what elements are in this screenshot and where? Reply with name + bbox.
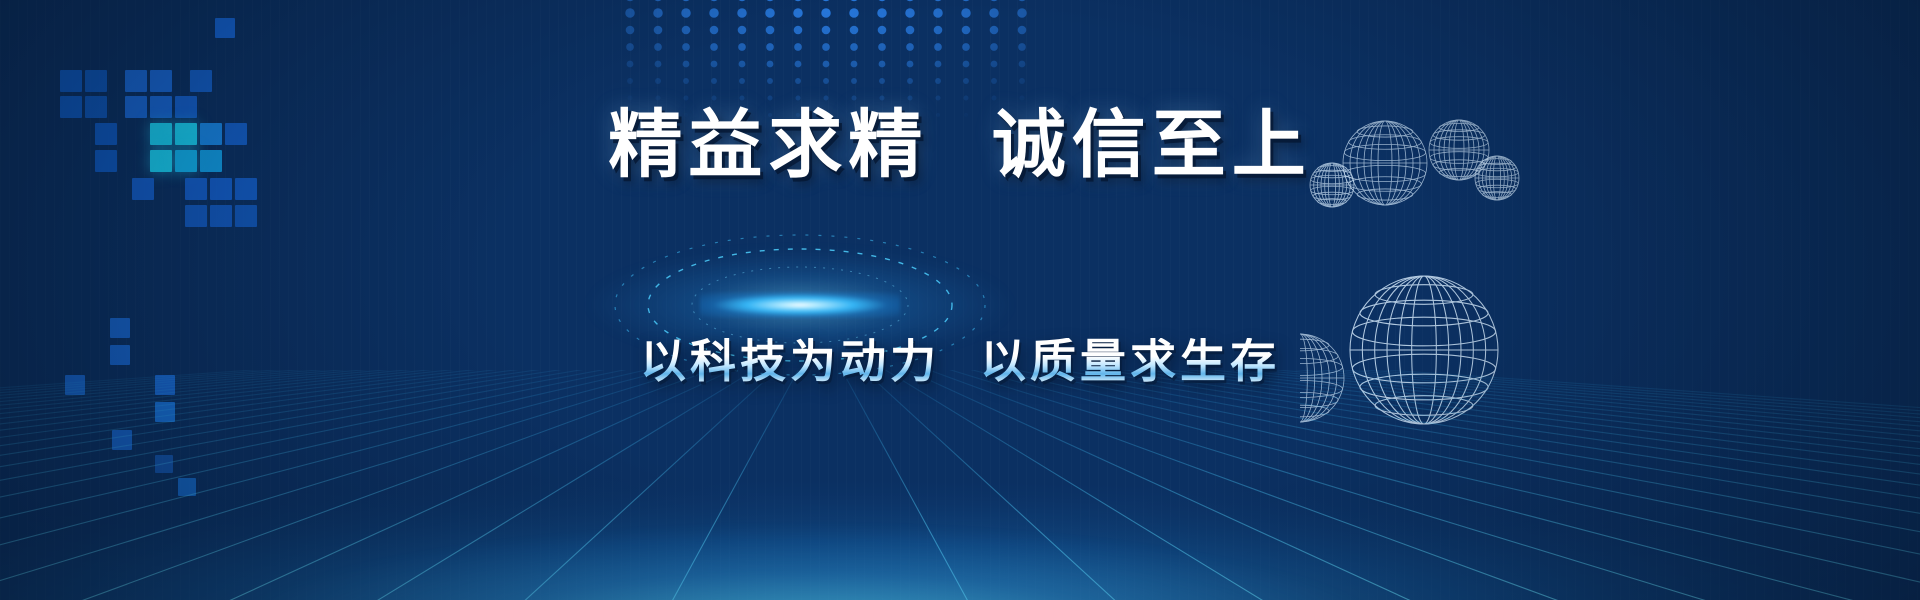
ring-core-glow <box>700 292 900 318</box>
globe <box>1429 120 1489 180</box>
globe <box>1300 334 1344 422</box>
mosaic-square <box>185 178 207 200</box>
mosaic-square <box>95 123 117 145</box>
grid-line <box>0 370 820 600</box>
ring-core-glow-outer <box>590 250 1010 360</box>
grid-line <box>0 370 820 600</box>
mosaic-square <box>200 150 222 172</box>
grid-line <box>820 370 1920 600</box>
mosaic-square <box>200 123 222 145</box>
grid-line <box>820 370 1920 600</box>
mosaic-square <box>215 18 235 38</box>
grid-line <box>0 370 820 600</box>
grid-line <box>70 370 820 600</box>
grid-line <box>820 370 1920 600</box>
mosaic-square <box>155 402 175 422</box>
grid-line <box>820 370 1920 600</box>
grid-line <box>820 370 1920 600</box>
mosaic-square <box>155 455 173 473</box>
grid-line <box>0 370 820 600</box>
mosaic-square <box>150 150 172 172</box>
grid-line <box>820 370 1920 600</box>
mosaic-square <box>185 205 207 227</box>
mosaic-square <box>225 123 247 145</box>
grid-line <box>0 370 820 600</box>
grid-line <box>520 370 820 600</box>
grid-line <box>0 370 820 600</box>
grid-line <box>820 370 1920 600</box>
mosaic-square <box>175 123 197 145</box>
grid-line <box>820 370 1570 600</box>
mosaic-square <box>125 96 147 118</box>
mosaic-square <box>150 123 172 145</box>
page-title: 精益求精 诚信至上 <box>0 108 1920 182</box>
grid-line <box>0 370 820 600</box>
grid-line <box>820 370 1420 600</box>
grid-line <box>0 370 820 600</box>
mosaic-square <box>178 478 196 496</box>
globe <box>1350 276 1498 424</box>
mosaic-square <box>112 430 132 450</box>
globe <box>1475 156 1519 200</box>
vertical-stripes-overlay <box>0 0 1920 600</box>
mosaic-square <box>110 318 130 338</box>
grid-line <box>0 370 820 600</box>
globe <box>1310 163 1354 207</box>
grid-line <box>370 370 820 600</box>
grid-line <box>820 370 1920 600</box>
grid-line <box>820 370 1920 600</box>
mosaic-square <box>85 70 107 92</box>
mosaic-square <box>132 178 154 200</box>
mosaic-square <box>60 70 82 92</box>
mosaic-square <box>190 70 212 92</box>
hero-banner: 精益求精 诚信至上 以科技为动力 以质量求生存 <box>0 0 1920 600</box>
glowing-orbit-ring <box>600 215 1000 395</box>
grid-line <box>0 370 820 600</box>
grid-line <box>820 370 1920 600</box>
grid-line <box>0 370 820 600</box>
grid-line <box>0 370 820 600</box>
mosaic-square <box>235 205 257 227</box>
grid-line <box>820 370 970 600</box>
mosaic-square <box>155 375 175 395</box>
grid-line <box>670 370 820 600</box>
grid-line <box>820 370 1920 600</box>
vignette-overlay <box>0 0 1920 600</box>
mosaic-square <box>175 150 197 172</box>
grid-line <box>820 370 1920 600</box>
globe <box>1343 121 1427 205</box>
mosaic-square <box>150 96 172 118</box>
grid-line <box>820 370 1870 600</box>
grid-line <box>820 370 1920 600</box>
grid-line <box>0 370 820 600</box>
grid-line <box>0 370 820 600</box>
grid-line <box>0 370 820 600</box>
wireframe-globes <box>1300 90 1920 520</box>
light-streaks <box>580 135 1020 475</box>
grid-line <box>220 370 820 600</box>
mosaic-square <box>235 178 257 200</box>
mosaic-square <box>210 205 232 227</box>
grid-line <box>820 370 1120 600</box>
perspective-grid-floor <box>0 370 1920 600</box>
grid-line <box>820 370 1720 600</box>
mosaic-square <box>85 96 107 118</box>
mosaic-square <box>95 150 117 172</box>
halftone-dot-matrix <box>620 0 1040 150</box>
grid-line <box>0 370 820 600</box>
mosaic-square <box>60 96 82 118</box>
grid-line <box>820 370 1920 600</box>
mosaic-square <box>110 345 130 365</box>
grid-line <box>820 370 1920 600</box>
pixel-mosaic <box>0 0 320 520</box>
grid-line <box>0 370 820 600</box>
grid-line <box>0 370 820 600</box>
mosaic-square <box>210 178 232 200</box>
grid-line <box>0 370 820 600</box>
page-subtitle: 以科技为动力 以质量求生存 <box>0 338 1920 384</box>
grid-line <box>820 370 1920 600</box>
grid-line <box>820 370 1920 600</box>
grid-line <box>820 370 1920 600</box>
floor-glow <box>0 430 1920 600</box>
grid-line <box>0 370 820 600</box>
mosaic-square <box>65 375 85 395</box>
grid-line <box>0 370 820 600</box>
grid-line <box>820 370 1920 600</box>
mosaic-square <box>150 70 172 92</box>
grid-line <box>820 370 1270 600</box>
mosaic-square <box>125 70 147 92</box>
mosaic-square <box>175 96 197 118</box>
